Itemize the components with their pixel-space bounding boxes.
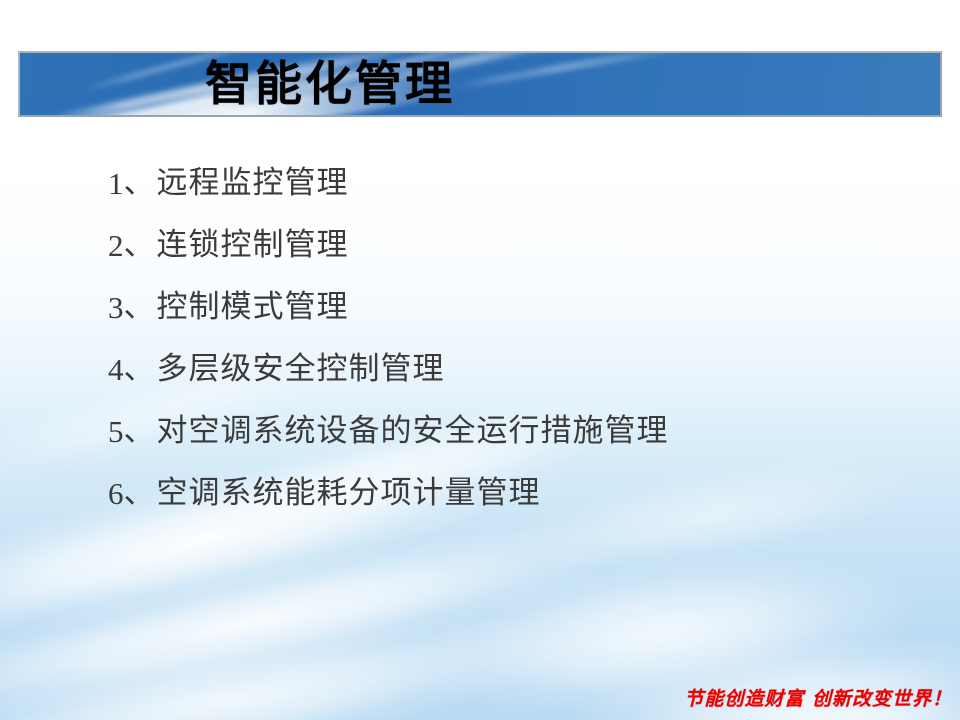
list-item-number: 3 bbox=[108, 292, 124, 323]
list-item-number: 2 bbox=[108, 230, 124, 261]
title-banner: 智能化管理 bbox=[18, 51, 942, 117]
list-item-label: 多层级安全控制管理 bbox=[157, 354, 445, 385]
list-item-separator: 、 bbox=[124, 354, 155, 385]
list-item: 4 、 多层级安全控制管理 bbox=[108, 338, 908, 400]
list-item: 6 、 空调系统能耗分项计量管理 bbox=[108, 462, 908, 524]
list-item-number: 4 bbox=[108, 354, 124, 385]
content-list: 1 、 远程监控管理 2 、 连锁控制管理 3 、 控制模式管理 4 、 多层级… bbox=[108, 152, 908, 524]
list-item-number: 1 bbox=[108, 168, 124, 199]
list-item: 1 、 远程监控管理 bbox=[108, 152, 908, 214]
list-item-number: 5 bbox=[108, 416, 124, 447]
list-item-separator: 、 bbox=[124, 292, 155, 323]
slide-canvas: 智能化管理 1 、 远程监控管理 2 、 连锁控制管理 3 、 控制模式管理 4… bbox=[0, 0, 960, 720]
footer-slogan: 节能创造财富 创新改变世界！ bbox=[684, 684, 952, 711]
list-item-separator: 、 bbox=[124, 230, 155, 261]
list-item-label: 空调系统能耗分项计量管理 bbox=[157, 478, 541, 509]
list-item-label: 控制模式管理 bbox=[157, 292, 349, 323]
list-item: 5 、 对空调系统设备的安全运行措施管理 bbox=[108, 400, 908, 462]
list-item: 3 、 控制模式管理 bbox=[108, 276, 908, 338]
page-title: 智能化管理 bbox=[20, 53, 940, 115]
list-item-separator: 、 bbox=[124, 478, 155, 509]
list-item-separator: 、 bbox=[124, 168, 155, 199]
list-item-label: 远程监控管理 bbox=[157, 168, 349, 199]
list-item-label: 对空调系统设备的安全运行措施管理 bbox=[157, 416, 669, 447]
list-item-number: 6 bbox=[108, 478, 124, 509]
list-item: 2 、 连锁控制管理 bbox=[108, 214, 908, 276]
list-item-label: 连锁控制管理 bbox=[157, 230, 349, 261]
list-item-separator: 、 bbox=[124, 416, 155, 447]
